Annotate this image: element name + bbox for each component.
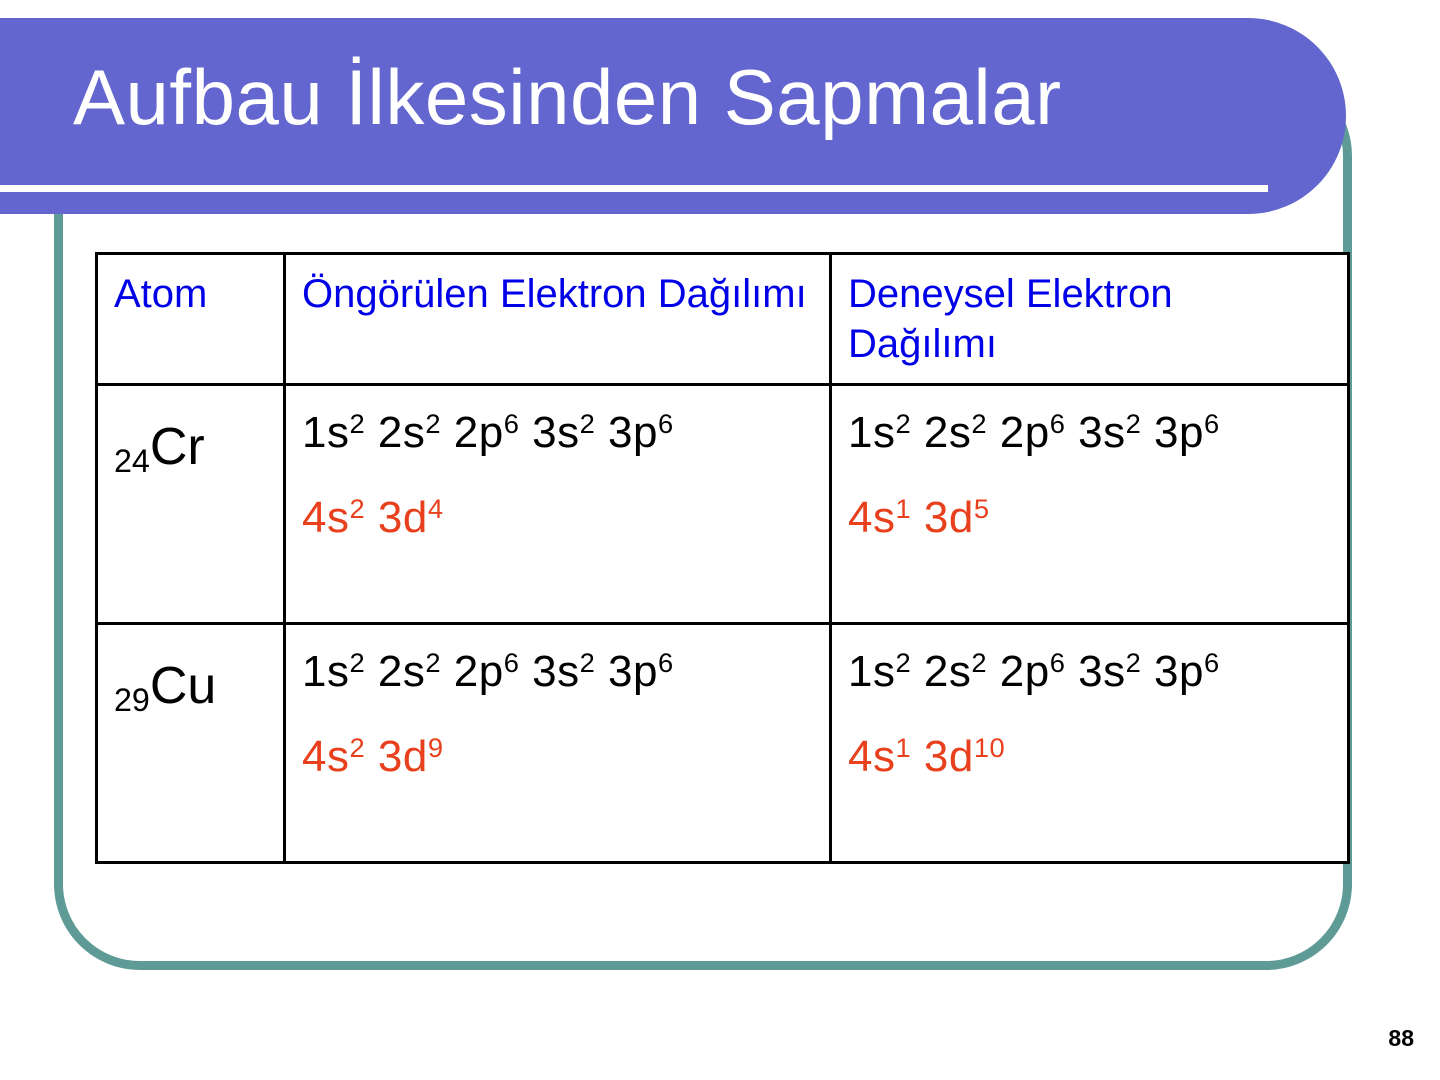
orbital-electron-count: 6: [1050, 647, 1066, 678]
orbital-electron-count: 1: [895, 493, 911, 524]
orbital-label: 2s: [924, 408, 971, 457]
table-header-row: Atom Öngörülen Elektron Dağılımı Deneyse…: [97, 254, 1349, 385]
orbital-label: 1s: [848, 408, 895, 457]
atom-cell: 24Cr: [97, 385, 285, 624]
orbital-label: 3p: [1154, 408, 1204, 457]
orbital-electron-count: 2: [580, 408, 596, 439]
orbital-electron-count: 2: [349, 647, 365, 678]
orbital-label: 3p: [608, 408, 658, 457]
orbital-electron-count: 2: [895, 408, 911, 439]
orbital-electron-count: 6: [1204, 647, 1220, 678]
orbital-electron-count: 10: [974, 732, 1005, 763]
orbital-electron-count: 9: [428, 732, 444, 763]
orbital-label: 2p: [1000, 647, 1050, 696]
orbital-label: 3s: [1078, 647, 1125, 696]
orbital-electron-count: 2: [1126, 408, 1142, 439]
orbital-label: 2s: [378, 408, 425, 457]
orbital-electron-count: 1: [895, 732, 911, 763]
orbital-electron-count: 4: [428, 493, 444, 524]
orbital-label: 3s: [532, 408, 579, 457]
atom-symbol: Cu: [150, 657, 216, 715]
orbital-electron-count: 2: [895, 647, 911, 678]
orbital-electron-count: 2: [580, 647, 596, 678]
orbital-label: 3d: [924, 732, 974, 781]
predicted-core-configuration: 1s2 2s2 2p6 3s2 3p6: [302, 400, 813, 471]
orbital-electron-count: 6: [1050, 408, 1066, 439]
page-number: 88: [1388, 1025, 1414, 1052]
title-underline-rule: [0, 185, 1268, 192]
orbital-electron-count: 6: [504, 647, 520, 678]
orbital-label: 4s: [302, 493, 349, 542]
orbital-electron-count: 6: [1204, 408, 1220, 439]
orbital-electron-count: 2: [349, 493, 365, 524]
experimental-valence-configuration: 4s1 3d10: [848, 724, 1331, 795]
orbital-label: 3s: [1078, 408, 1125, 457]
orbital-label: 1s: [302, 408, 349, 457]
experimental-core-configuration: 1s2 2s2 2p6 3s2 3p6: [848, 639, 1331, 710]
table-header-cell-predicted: Öngörülen Elektron Dağılımı: [285, 254, 831, 385]
orbital-label: 3d: [924, 493, 974, 542]
orbital-label: 3s: [532, 647, 579, 696]
slide-canvas: Aufbau İlkesinden Sapmalar Atom Öngörüle…: [0, 0, 1440, 1080]
orbital-label: 2p: [454, 408, 504, 457]
orbital-label: 3p: [608, 647, 658, 696]
orbital-electron-count: 2: [349, 408, 365, 439]
predicted-configuration-cell: 1s2 2s2 2p6 3s2 3p6 4s2 3d9: [285, 624, 831, 863]
orbital-label: 2s: [378, 647, 425, 696]
orbital-electron-count: 5: [974, 493, 990, 524]
table-row: 29Cu 1s2 2s2 2p6 3s2 3p6 4s2 3d9 1s2 2s2…: [97, 624, 1349, 863]
atomic-number: 24: [114, 443, 150, 479]
predicted-configuration-cell: 1s2 2s2 2p6 3s2 3p6 4s2 3d4: [285, 385, 831, 624]
orbital-electron-count: 2: [425, 647, 441, 678]
orbital-electron-count: 6: [658, 647, 674, 678]
atomic-number: 29: [114, 682, 150, 718]
predicted-valence-configuration: 4s2 3d9: [302, 724, 813, 795]
experimental-core-configuration: 1s2 2s2 2p6 3s2 3p6: [848, 400, 1331, 471]
atom-symbol: Cr: [150, 418, 205, 476]
orbital-label: 2s: [924, 647, 971, 696]
predicted-valence-configuration: 4s2 3d4: [302, 485, 813, 556]
atom-symbol-with-number: 24Cr: [114, 400, 267, 482]
table-header-cell-atom: Atom: [97, 254, 285, 385]
orbital-label: 3p: [1154, 647, 1204, 696]
page-title: Aufbau İlkesinden Sapmalar: [73, 55, 1062, 139]
orbital-electron-count: 2: [971, 647, 987, 678]
orbital-label: 1s: [848, 647, 895, 696]
orbital-electron-count: 2: [349, 732, 365, 763]
orbital-label: 4s: [848, 732, 895, 781]
orbital-electron-count: 6: [504, 408, 520, 439]
experimental-configuration-cell: 1s2 2s2 2p6 3s2 3p6 4s1 3d5: [831, 385, 1349, 624]
orbital-electron-count: 2: [1126, 647, 1142, 678]
orbital-label: 3d: [378, 732, 428, 781]
atom-symbol-with-number: 29Cu: [114, 639, 267, 721]
orbital-electron-count: 6: [658, 408, 674, 439]
orbital-electron-count: 2: [425, 408, 441, 439]
electron-configuration-table: Atom Öngörülen Elektron Dağılımı Deneyse…: [95, 252, 1350, 864]
atom-cell: 29Cu: [97, 624, 285, 863]
experimental-configuration-cell: 1s2 2s2 2p6 3s2 3p6 4s1 3d10: [831, 624, 1349, 863]
orbital-label: 2p: [1000, 408, 1050, 457]
experimental-valence-configuration: 4s1 3d5: [848, 485, 1331, 556]
orbital-electron-count: 2: [971, 408, 987, 439]
orbital-label: 1s: [302, 647, 349, 696]
orbital-label: 3d: [378, 493, 428, 542]
orbital-label: 4s: [848, 493, 895, 542]
orbital-label: 4s: [302, 732, 349, 781]
predicted-core-configuration: 1s2 2s2 2p6 3s2 3p6: [302, 639, 813, 710]
table-header-label-predicted: Öngörülen Elektron Dağılımı: [302, 269, 813, 319]
table-header-label-experimental: Deneysel Elektron Dağılımı: [848, 269, 1331, 369]
table-row: 24Cr 1s2 2s2 2p6 3s2 3p6 4s2 3d4 1s2 2s2…: [97, 385, 1349, 624]
table-header-cell-experimental: Deneysel Elektron Dağılımı: [831, 254, 1349, 385]
orbital-label: 2p: [454, 647, 504, 696]
table-header-label-atom: Atom: [114, 269, 267, 319]
